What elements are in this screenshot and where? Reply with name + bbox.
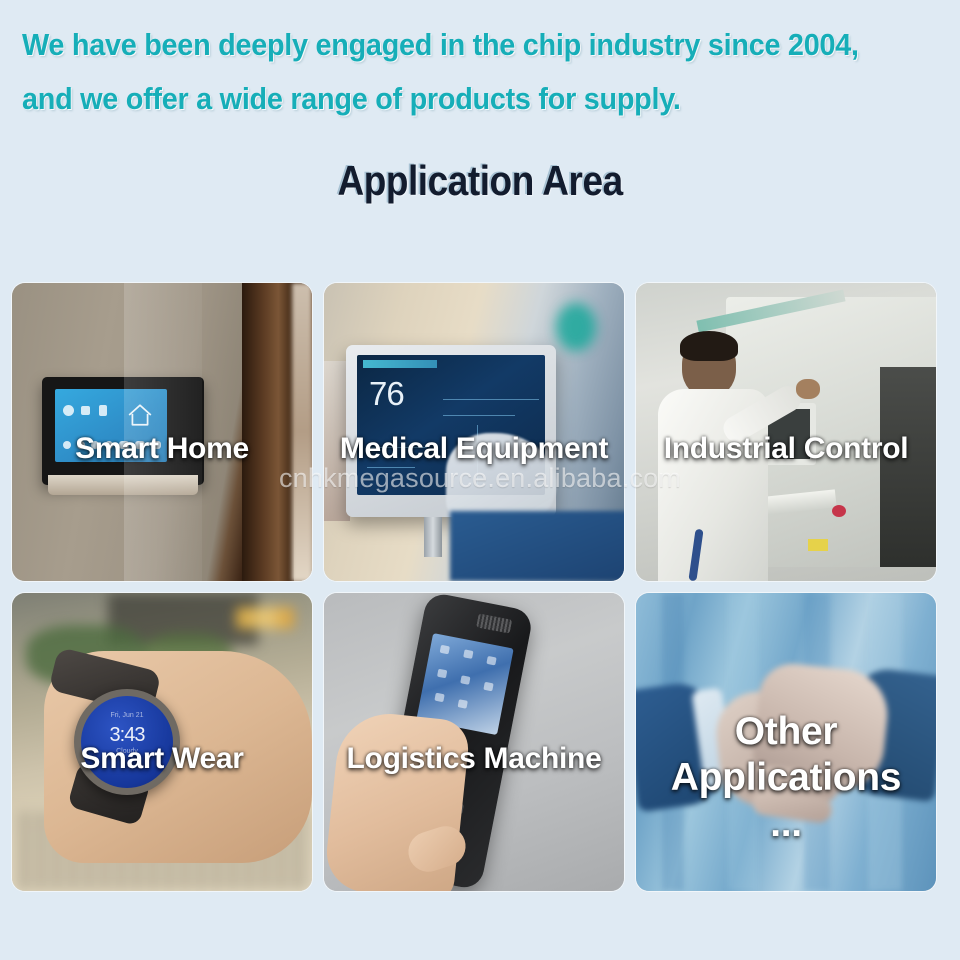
page-title-text: Application Area bbox=[337, 155, 622, 207]
card-label-other-applications: Other Applications ... bbox=[636, 709, 936, 847]
card-label-smart-wear: Smart Wear bbox=[12, 741, 312, 777]
card-label-logistics-machine: Logistics Machine bbox=[324, 741, 624, 777]
application-card-other-applications[interactable]: Other Applications ... bbox=[636, 593, 936, 891]
application-card-medical-equipment[interactable]: 76 Medical Equipment bbox=[324, 283, 624, 581]
headline-line-2: and we offer a wide range of products fo… bbox=[22, 72, 874, 126]
headline: We have been deeply engaged in the chip … bbox=[0, 18, 960, 126]
application-card-industrial-control[interactable]: Industrial Control bbox=[636, 283, 936, 581]
monitor-heart-rate-value: 76 bbox=[369, 377, 404, 410]
application-card-logistics-machine[interactable]: Logistics Machine bbox=[324, 593, 624, 891]
application-card-grid: Smart Home 76 bbox=[12, 283, 948, 891]
card-label-industrial-control: Industrial Control bbox=[636, 431, 936, 467]
card-label-medical-equipment: Medical Equipment bbox=[324, 431, 624, 467]
application-area-banner: We have been deeply engaged in the chip … bbox=[0, 0, 960, 960]
watch-day-text: Fri, Jun 21 bbox=[81, 712, 173, 719]
application-card-smart-home[interactable]: Smart Home bbox=[12, 283, 312, 581]
application-card-smart-wear[interactable]: Fri, Jun 21 3:43 Cloudy Smart Wear bbox=[12, 593, 312, 891]
page-title: Application Area bbox=[0, 155, 960, 207]
card-label-smart-home: Smart Home bbox=[12, 431, 312, 467]
headline-line-1: We have been deeply engaged in the chip … bbox=[22, 18, 874, 72]
